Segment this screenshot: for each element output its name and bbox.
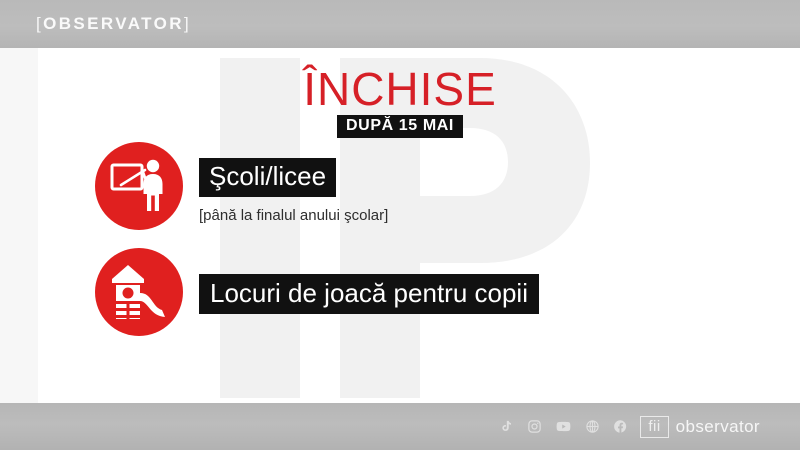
list-item-note: [până la finalul anului şcolar] [199, 207, 388, 224]
social-icons-group [499, 419, 628, 434]
school-teacher-blackboard-icon [95, 142, 183, 230]
web-globe-icon[interactable] [585, 419, 600, 434]
playground-slide-icon [95, 248, 183, 336]
logo-bracket-close: ] [184, 14, 191, 33]
instagram-icon[interactable] [527, 419, 542, 434]
facebook-icon[interactable] [613, 419, 628, 434]
list-item-text: Locuri de joacă pentru copii [199, 248, 539, 314]
list-item-text: Şcoli/licee [până la finalul anului şcol… [199, 142, 388, 224]
slide-canvas: [OBSERVATOR] ÎNCHISE DUPĂ 15 MAI Şcoli/l… [0, 0, 800, 450]
title-block: ÎNCHISE DUPĂ 15 MAI [0, 66, 800, 138]
footer-brand: fii observator [640, 416, 760, 438]
tiktok-icon[interactable] [499, 419, 514, 434]
subtitle-row: DUPĂ 15 MAI [0, 115, 800, 138]
list-item-label: Şcoli/licee [199, 158, 336, 197]
youtube-icon[interactable] [555, 419, 572, 434]
logo-text: OBSERVATOR [43, 14, 184, 33]
observator-logo: [OBSERVATOR] [36, 14, 191, 34]
footer-brand-word: observator [676, 417, 760, 437]
fii-badge: fii [640, 416, 668, 438]
logo-bracket-open: [ [36, 14, 43, 33]
list-item: Şcoli/licee [până la finalul anului şcol… [95, 142, 388, 230]
subtitle-badge: DUPĂ 15 MAI [337, 115, 463, 138]
page-title: ÎNCHISE [0, 66, 800, 112]
list-item-label: Locuri de joacă pentru copii [199, 274, 539, 314]
list-item: Locuri de joacă pentru copii [95, 248, 539, 336]
top-header-bar: [OBSERVATOR] [0, 0, 800, 48]
bottom-footer-bar: fii observator [0, 403, 800, 450]
